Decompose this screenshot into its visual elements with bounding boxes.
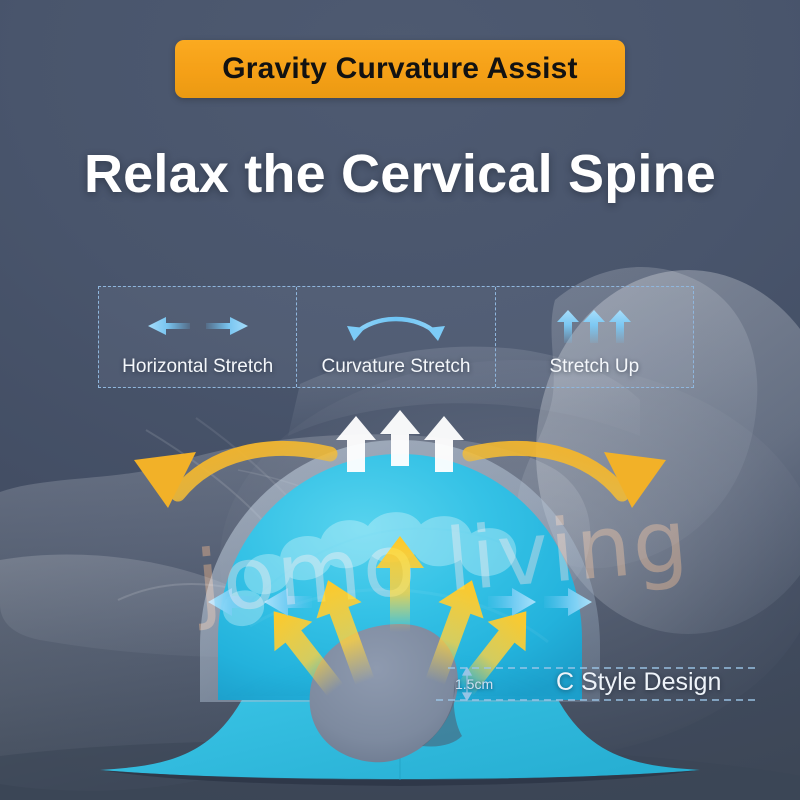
feature-label: Curvature Stretch bbox=[322, 356, 471, 387]
left-right-arrows-icon bbox=[99, 309, 296, 343]
feature-panel-horizontal-stretch: Horizontal Stretch bbox=[99, 287, 296, 387]
feature-label: Stretch Up bbox=[549, 356, 639, 387]
product-marketing-image: Gravity Curvature Assist Relax the Cervi… bbox=[0, 0, 800, 800]
feature-panel-curvature-stretch: Curvature Stretch bbox=[296, 287, 494, 387]
feature-label: Horizontal Stretch bbox=[122, 356, 273, 387]
c-style-design-label: C Style Design bbox=[556, 668, 721, 697]
curved-double-arrow-icon bbox=[297, 309, 494, 343]
page-title: Relax the Cervical Spine bbox=[0, 143, 800, 205]
three-up-arrows-icon bbox=[496, 309, 693, 343]
gravity-curvature-assist-badge: Gravity Curvature Assist bbox=[175, 40, 625, 98]
feature-panel-stretch-up: Stretch Up bbox=[495, 287, 693, 387]
up-arrows-white bbox=[336, 410, 464, 472]
badge-label: Gravity Curvature Assist bbox=[222, 52, 578, 86]
product-illustration bbox=[0, 396, 800, 800]
dimension-label: 1.5cm bbox=[455, 676, 493, 692]
c-shaped-cervical-pillow bbox=[0, 396, 800, 800]
feature-panel-group: Horizontal Stretch Curvat bbox=[98, 286, 694, 388]
